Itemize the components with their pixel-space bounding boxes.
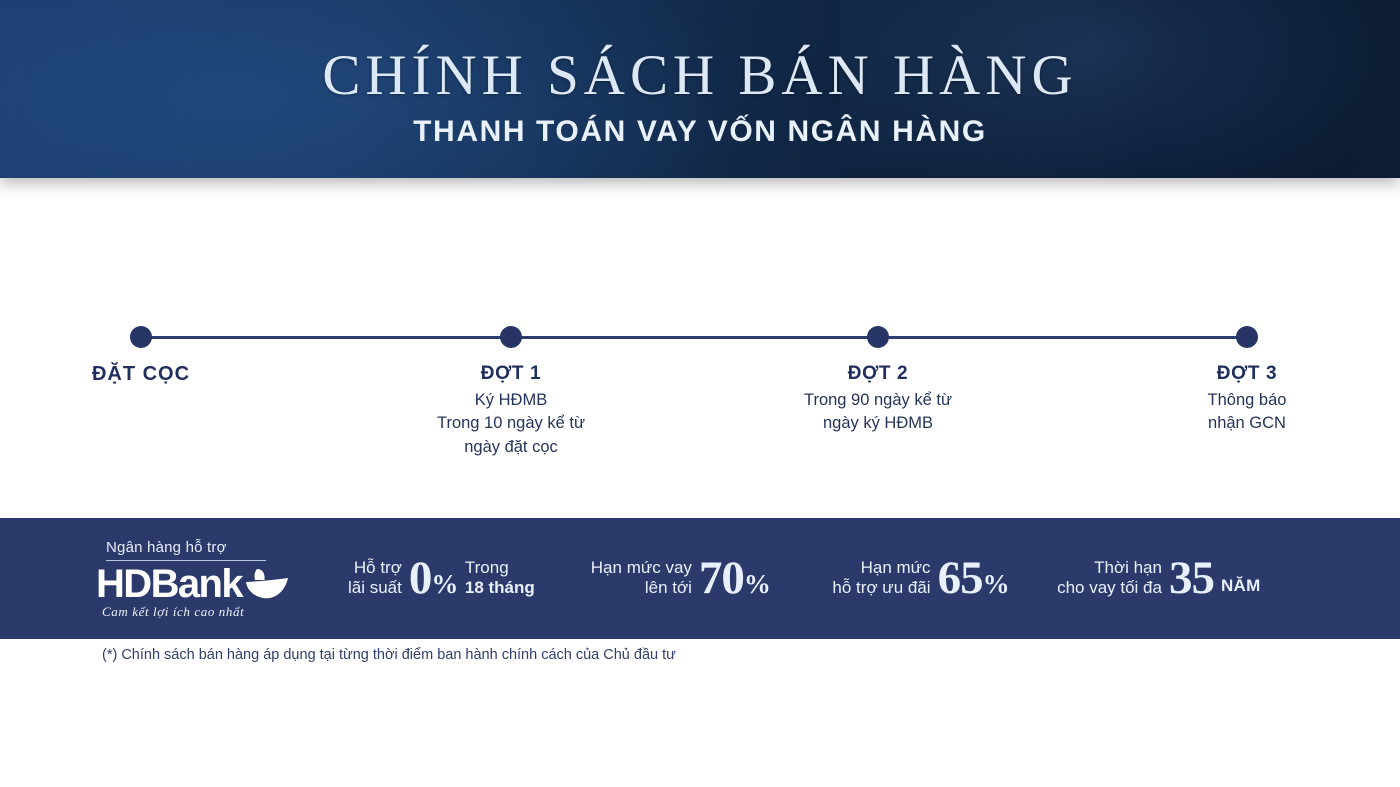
- benefit-label-line-1: Hỗ trợ: [348, 558, 402, 578]
- benefit-label-line-2: cho vay tối đa: [1057, 578, 1162, 598]
- phase-desc-line-1: Thông báo: [1097, 389, 1397, 412]
- phase-name: ĐẶT CỌC: [0, 363, 291, 386]
- bank-support-label: Ngân hàng hỗ trợ: [96, 539, 311, 556]
- phase-desc-line-2: ngày ký HĐMB: [728, 412, 1028, 435]
- benefit-label-line-2: lãi suất: [348, 578, 402, 598]
- benefit-label-line-2: lên tới: [591, 578, 692, 598]
- phase-desc-line-2: nhận GCN: [1097, 412, 1397, 435]
- benefit-trailing: Trong 18 tháng: [465, 558, 535, 599]
- hdbank-bird-icon: [244, 567, 290, 601]
- header-text-block: CHÍNH SÁCH BÁN HÀNG THANH TOÁN VAY VỐN N…: [0, 0, 1400, 149]
- benefits-list: Hỗ trợ lãi suất 0% Trong 18 tháng Hạn mứ…: [340, 518, 1400, 639]
- benefit-label-line-1: Hạn mức vay: [591, 558, 692, 578]
- benefit-label-line-2: hỗ trợ ưu đãi: [832, 578, 930, 598]
- benefit-number: 35: [1169, 552, 1214, 604]
- benefit-item-loan-limit: Hạn mức vay lên tới 70%: [591, 556, 771, 601]
- benefit-number: 65: [938, 552, 983, 604]
- benefit-item-preferential-limit: Hạn mức hỗ trợ ưu đãi 65%: [832, 556, 1009, 601]
- benefit-trailing-line-1: Trong: [465, 558, 535, 578]
- phase-desc-line-2: Trong 10 ngày kể từ: [361, 412, 661, 435]
- phase-2-label-block: ĐỢT 2 Trong 90 ngày kể từ ngày ký HĐMB: [728, 363, 1028, 436]
- phase-name: ĐỢT 3: [1097, 363, 1397, 385]
- benefit-label: Thời hạn cho vay tối đa: [1057, 558, 1162, 599]
- bank-benefits-band: Ngân hàng hỗ trợ HDBank Cam kết lợi ích …: [0, 518, 1400, 639]
- logo-divider: [106, 560, 266, 561]
- benefit-value: 65%: [938, 556, 1010, 601]
- benefit-label: Hỗ trợ lãi suất: [348, 558, 402, 599]
- payment-timeline: 500 TRIỆU ĐẶT CỌC Khách hàng 15% + Ngân …: [0, 178, 1400, 520]
- benefit-number: 0: [409, 552, 432, 604]
- header-banner: CHÍNH SÁCH BÁN HÀNG THANH TOÁN VAY VỐN N…: [0, 0, 1400, 178]
- hdbank-tagline: Cam kết lợi ích cao nhất: [96, 604, 311, 620]
- benefit-percent-sign: %: [983, 569, 1010, 599]
- phase-description: Thông báo nhận GCN: [1097, 389, 1397, 436]
- policy-footnote: (*) Chính sách bán hàng áp dụng tại từng…: [102, 647, 676, 663]
- hdbank-wordmark-row: HDBank: [96, 562, 311, 606]
- benefit-item-loan-term: Thời hạn cho vay tối đa 35 NĂM: [1057, 556, 1261, 601]
- benefit-value: 35: [1169, 556, 1214, 601]
- phase-1-label-block: ĐỢT 1 Ký HĐMB Trong 10 ngày kể từ ngày đ…: [361, 363, 661, 459]
- phase-3-label-block: ĐỢT 3 Thông báo nhận GCN: [1097, 363, 1397, 436]
- timeline-axis-line: [141, 336, 1247, 339]
- benefit-percent-sign: %: [431, 569, 458, 599]
- timeline-dot: [867, 326, 889, 348]
- benefit-number: 70: [699, 552, 744, 604]
- page-subtitle: THANH TOÁN VAY VỐN NGÂN HÀNG: [0, 115, 1400, 149]
- phase-desc-line-3: ngày đặt cọc: [361, 436, 661, 459]
- benefit-value: 0%: [409, 556, 458, 601]
- phase-desc-line-1: Ký HĐMB: [361, 389, 661, 412]
- benefit-trailing-line-2: 18 tháng: [465, 578, 535, 598]
- page-title: CHÍNH SÁCH BÁN HÀNG: [0, 47, 1400, 105]
- benefit-unit-suffix: NĂM: [1221, 576, 1261, 601]
- hdbank-logo-block: Ngân hàng hỗ trợ HDBank Cam kết lợi ích …: [96, 539, 311, 620]
- benefit-percent-sign: %: [744, 569, 771, 599]
- timeline-dot: [1236, 326, 1258, 348]
- timeline-dot: [500, 326, 522, 348]
- benefit-label-line-1: Hạn mức: [832, 558, 930, 578]
- phase-desc-line-1: Trong 90 ngày kể từ: [728, 389, 1028, 412]
- phase-name: ĐỢT 2: [728, 363, 1028, 385]
- deposit-label-block: ĐẶT CỌC: [0, 363, 291, 386]
- phase-name: ĐỢT 1: [361, 363, 661, 385]
- benefit-label: Hạn mức hỗ trợ ưu đãi: [832, 558, 930, 599]
- phase-description: Trong 90 ngày kể từ ngày ký HĐMB: [728, 389, 1028, 436]
- benefit-label: Hạn mức vay lên tới: [591, 558, 692, 599]
- timeline-dot: [130, 326, 152, 348]
- hdbank-wordmark: HDBank: [96, 562, 242, 606]
- phase-description: Ký HĐMB Trong 10 ngày kể từ ngày đặt cọc: [361, 389, 661, 459]
- benefit-value: 70%: [699, 556, 771, 601]
- benefit-label-line-1: Thời hạn: [1057, 558, 1162, 578]
- benefit-item-interest-support: Hỗ trợ lãi suất 0% Trong 18 tháng: [348, 556, 535, 601]
